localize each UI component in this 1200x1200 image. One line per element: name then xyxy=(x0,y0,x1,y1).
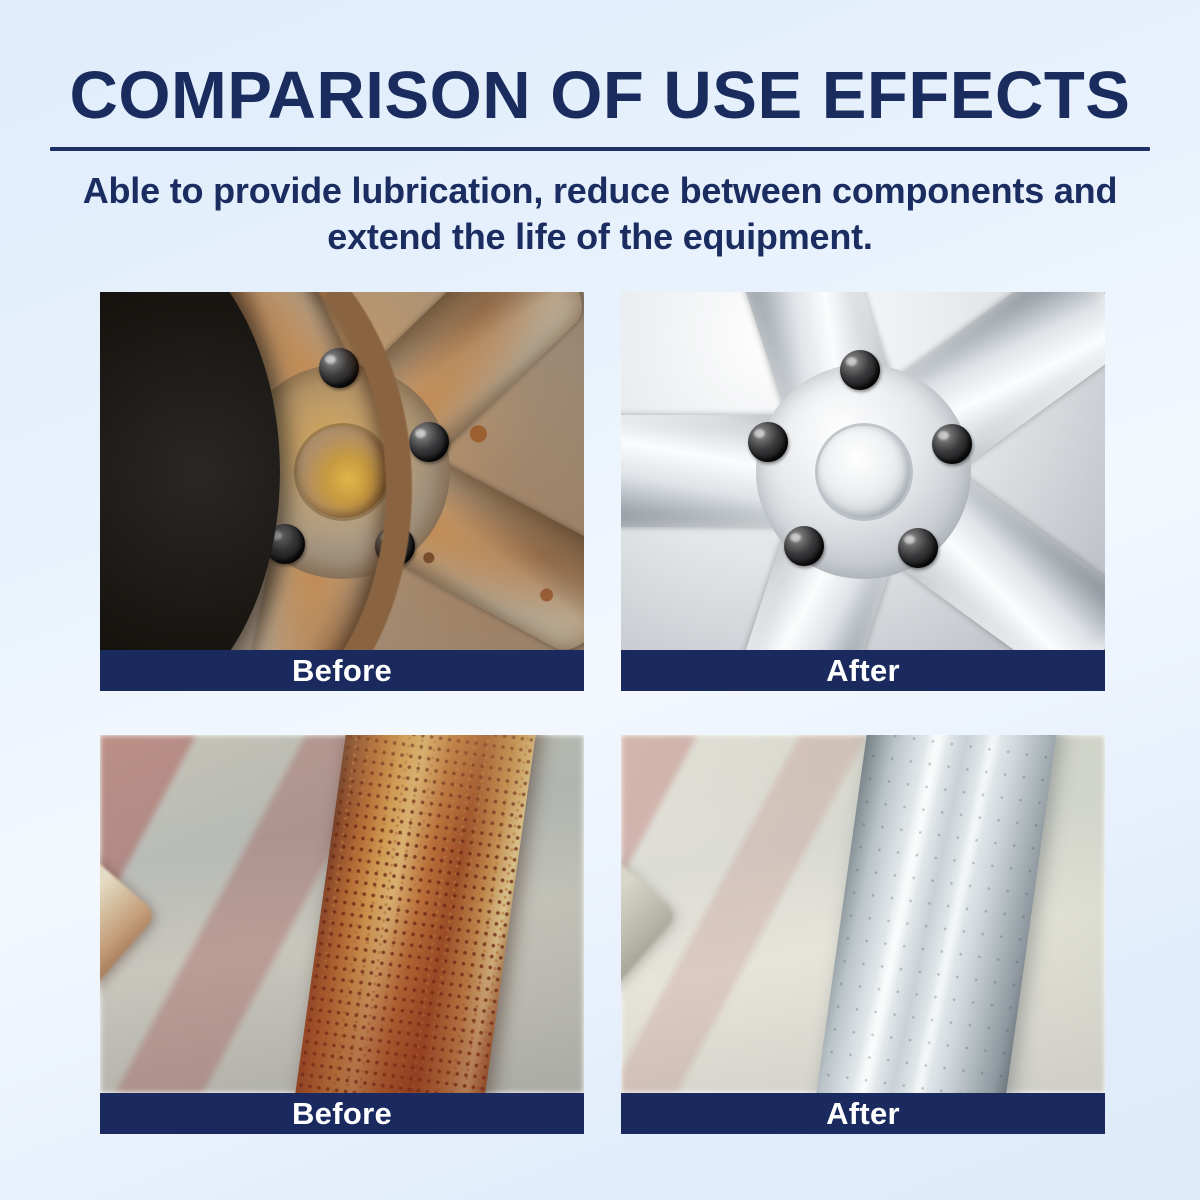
page-title: COMPARISON OF USE EFFECTS xyxy=(0,62,1200,129)
lug-nut xyxy=(748,422,788,462)
page-subtitle: Able to provide lubrication, reduce betw… xyxy=(0,168,1200,260)
header: COMPARISON OF USE EFFECTS Able to provid… xyxy=(0,0,1200,260)
label-bar-before: Before xyxy=(100,650,584,691)
comparison-grid: Before xyxy=(100,292,1105,1134)
tire-edge xyxy=(100,292,280,650)
clean-wheel-illustration xyxy=(621,292,1105,650)
photo-rusty-wheel xyxy=(100,292,584,650)
rusty-pipe-illustration xyxy=(100,735,584,1093)
wheel-hub xyxy=(756,364,971,579)
rusty-wheel-illustration xyxy=(100,292,584,650)
lug-nut xyxy=(784,526,824,566)
lug-nut xyxy=(932,424,972,464)
comparison-card-wheel-after: After xyxy=(621,292,1105,691)
title-divider xyxy=(50,147,1150,151)
lug-nut xyxy=(898,528,938,568)
photo-clean-pipe xyxy=(621,735,1105,1093)
comparison-card-pipe-after: After xyxy=(621,735,1105,1134)
lug-nut xyxy=(409,422,449,462)
photo-clean-wheel xyxy=(621,292,1105,650)
label-bar-after: After xyxy=(621,650,1105,691)
clean-pipe-illustration xyxy=(621,735,1105,1093)
lug-nut xyxy=(840,350,880,390)
comparison-row-pipe: Before After xyxy=(100,735,1105,1134)
comparison-row-wheel: Before xyxy=(100,292,1105,691)
wheel-disc xyxy=(621,292,1105,650)
label-bar-after: After xyxy=(621,1093,1105,1134)
infographic-page: COMPARISON OF USE EFFECTS Able to provid… xyxy=(0,0,1200,1200)
photo-rusty-pipe xyxy=(100,735,584,1093)
comparison-card-wheel-before: Before xyxy=(100,292,584,691)
label-bar-before: Before xyxy=(100,1093,584,1134)
comparison-card-pipe-before: Before xyxy=(100,735,584,1134)
wheel-center-cap xyxy=(818,426,910,518)
